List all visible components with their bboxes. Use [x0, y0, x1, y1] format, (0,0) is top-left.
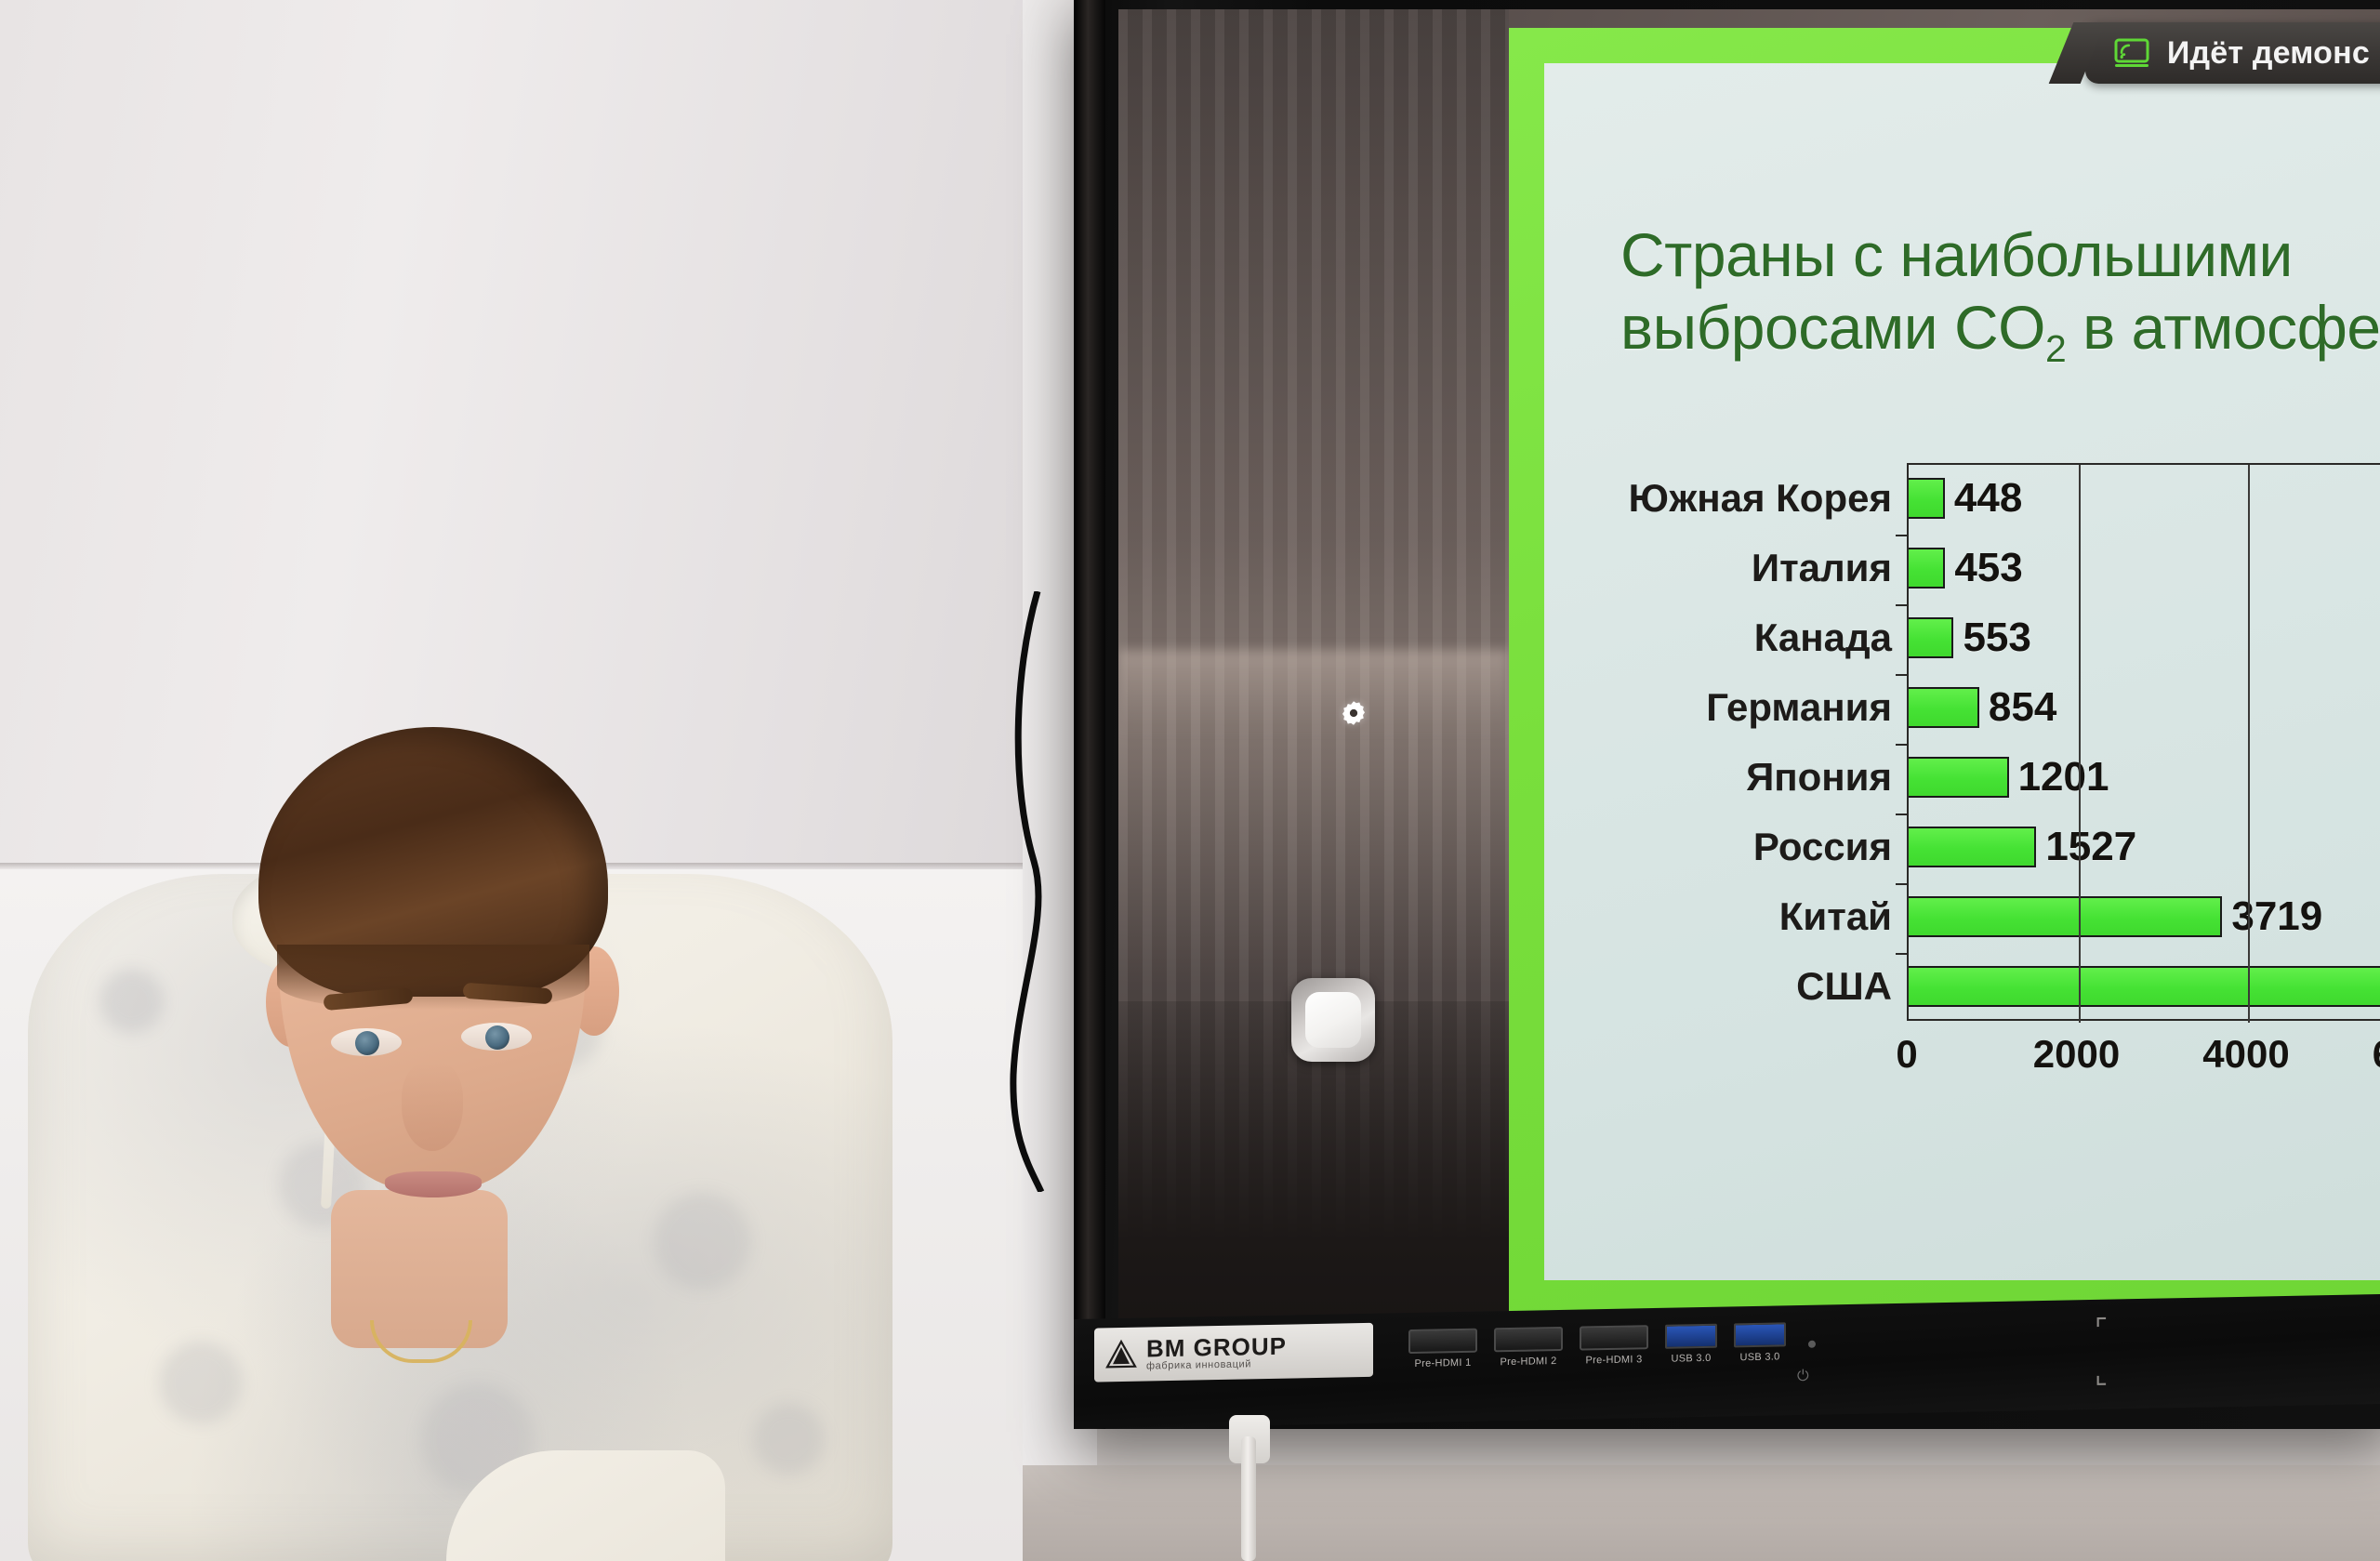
brand-plate: BM GROUP фабрика инноваций — [1094, 1323, 1373, 1382]
hdmi-port[interactable]: Pre-HDMI 3 — [1580, 1325, 1648, 1366]
chart-bar — [1907, 757, 2009, 798]
display-screen[interactable]: Страны с наибольшими выбросами CO2 в атм… — [1118, 9, 2380, 1401]
chart-bar-value: 553 — [1963, 615, 2030, 661]
chart-bar — [1907, 478, 1945, 519]
chart-category-label: Италия — [1581, 546, 1907, 590]
port-row: Pre-HDMI 1Pre-HDMI 2Pre-HDMI 3USB 3.0USB… — [1408, 1322, 1786, 1369]
chart-category-label: США — [1581, 964, 1907, 1009]
chart-row: Южная Корея448 — [1581, 463, 2380, 533]
mouth — [385, 1171, 482, 1197]
corner-mark-bottom: ⌞ — [2095, 1361, 2108, 1389]
nose — [402, 1062, 463, 1151]
iris-left — [355, 1031, 379, 1055]
chart-row: Канада553 — [1581, 602, 2380, 672]
chart-row: Япония1201 — [1581, 742, 2380, 812]
port-label: USB 3.0 — [1665, 1353, 1717, 1365]
co2-bar-chart: Южная Корея448Италия453Канада553Германия… — [1581, 463, 2380, 1105]
bm-group-logo-icon — [1105, 1339, 1137, 1371]
presentation-slide[interactable]: Страны с наибольшими выбросами CO2 в атм… — [1544, 63, 2380, 1280]
port-label: USB 3.0 — [1734, 1351, 1786, 1363]
chart-x-tick-label: 4000 — [2202, 1032, 2289, 1077]
floor — [1023, 1465, 2380, 1561]
hdmi-port[interactable]: Pre-HDMI 1 — [1408, 1329, 1477, 1369]
eye-left — [331, 1028, 402, 1056]
chart-category-label: Япония — [1581, 755, 1907, 800]
chart-bar-area: 854 — [1907, 672, 2380, 742]
brand-tagline: фабрика инноваций — [1146, 1358, 1287, 1371]
slide-title: Страны с наибольшими выбросами CO2 в атм… — [1620, 219, 2380, 371]
chart-bar-area: 453 — [1907, 533, 2380, 602]
chart-bar — [1907, 617, 1953, 658]
chart-row: Россия1527 — [1581, 812, 2380, 881]
chart-bar-value: 453 — [1954, 545, 2022, 591]
gear-icon[interactable] — [1340, 699, 1368, 727]
brand-name: BM GROUP — [1146, 1333, 1287, 1361]
corner-mark-top: ⌜ — [2095, 1316, 2108, 1344]
chart-bar-value: 1201 — [2018, 754, 2109, 800]
sensor-button[interactable] — [1291, 978, 1375, 1062]
chart-bar-value: 1527 — [2045, 824, 2136, 870]
chart-category-label: Китай — [1581, 894, 1907, 939]
power-indicator-icon: ⏻ — [1797, 1369, 1809, 1385]
co2-subscript: 2 — [2045, 327, 2066, 370]
iris-right — [485, 1025, 509, 1050]
port-label: Pre-HDMI 2 — [1494, 1356, 1563, 1368]
usb-port[interactable]: USB 3.0 — [1734, 1322, 1786, 1363]
chart-bar-area: 1527 — [1907, 812, 2380, 881]
chart-row: Германия854 — [1581, 672, 2380, 742]
slide-title-line2-post: в атмосферу — [2066, 293, 2380, 362]
chart-bar-area: 1201 — [1907, 742, 2380, 812]
chart-category-label: Германия — [1581, 685, 1907, 730]
chart-bar-area: 3719 — [1907, 881, 2380, 951]
chart-x-axis: 02000400060008000 — [1907, 1032, 2380, 1097]
chart-x-tick-label: 6000 — [2373, 1032, 2380, 1077]
chart-bar — [1907, 966, 2380, 1007]
chart-bar-area: 448 — [1907, 463, 2380, 533]
chart-row: США5729 — [1581, 951, 2380, 1021]
slide-green-frame: Страны с наибольшими выбросами CO2 в атм… — [1509, 28, 2380, 1321]
hdmi-port[interactable]: Pre-HDMI 2 — [1494, 1327, 1563, 1368]
screen-cast-icon — [2113, 38, 2150, 68]
chart-category-label: Россия — [1581, 825, 1907, 869]
chart-row: Италия453 — [1581, 533, 2380, 602]
classroom-scene: Страны с наибольшими выбросами CO2 в атм… — [0, 0, 2380, 1561]
chart-bar — [1907, 548, 1945, 589]
usb-slot-icon — [1734, 1322, 1786, 1347]
chart-category-label: Южная Корея — [1581, 476, 1907, 521]
chart-rows: Южная Корея448Италия453Канада553Германия… — [1581, 463, 2380, 1021]
chart-bar-value: 448 — [1954, 475, 2022, 522]
chart-bar-value: 854 — [1989, 684, 2056, 731]
chart-bar — [1907, 896, 2222, 937]
ir-sensor — [1808, 1341, 1816, 1348]
usb-port[interactable]: USB 3.0 — [1665, 1324, 1717, 1365]
chart-row: Китай3719 — [1581, 881, 2380, 951]
chart-bar-value: 3719 — [2231, 893, 2322, 940]
port-label: Pre-HDMI 3 — [1580, 1354, 1648, 1366]
display-bezel-left-edge — [1074, 0, 1105, 1429]
slide-title-line2: выбросами CO2 в атмосферу — [1620, 292, 2380, 371]
port-label: Pre-HDMI 1 — [1408, 1357, 1477, 1369]
chart-x-tick-label: 2000 — [2033, 1032, 2120, 1077]
slide-title-line2-pre: выбросами CO — [1620, 293, 2045, 362]
power-cable — [1241, 1436, 1256, 1561]
hdmi-slot-icon — [1494, 1327, 1563, 1352]
screencast-banner[interactable]: Идёт демонс — [2085, 22, 2380, 84]
chart-bar — [1907, 827, 2036, 867]
hdmi-slot-icon — [1408, 1329, 1477, 1354]
chart-category-label: Канада — [1581, 615, 1907, 660]
hair — [258, 727, 608, 997]
slide-title-line1: Страны с наибольшими — [1620, 219, 2380, 292]
usb-slot-icon — [1665, 1324, 1717, 1349]
eye-right — [461, 1023, 532, 1051]
chart-x-tick-label: 0 — [1896, 1032, 1917, 1077]
hdmi-slot-icon — [1580, 1325, 1648, 1350]
chart-bar-area: 553 — [1907, 602, 2380, 672]
presenter: NIKE — [0, 437, 892, 1561]
screencast-banner-text: Идёт демонс — [2167, 35, 2370, 72]
chart-bar-area: 5729 — [1907, 951, 2380, 1021]
interactive-display[interactable]: Страны с наибольшими выбросами CO2 в атм… — [1074, 0, 2380, 1429]
chart-bar — [1907, 687, 1979, 728]
